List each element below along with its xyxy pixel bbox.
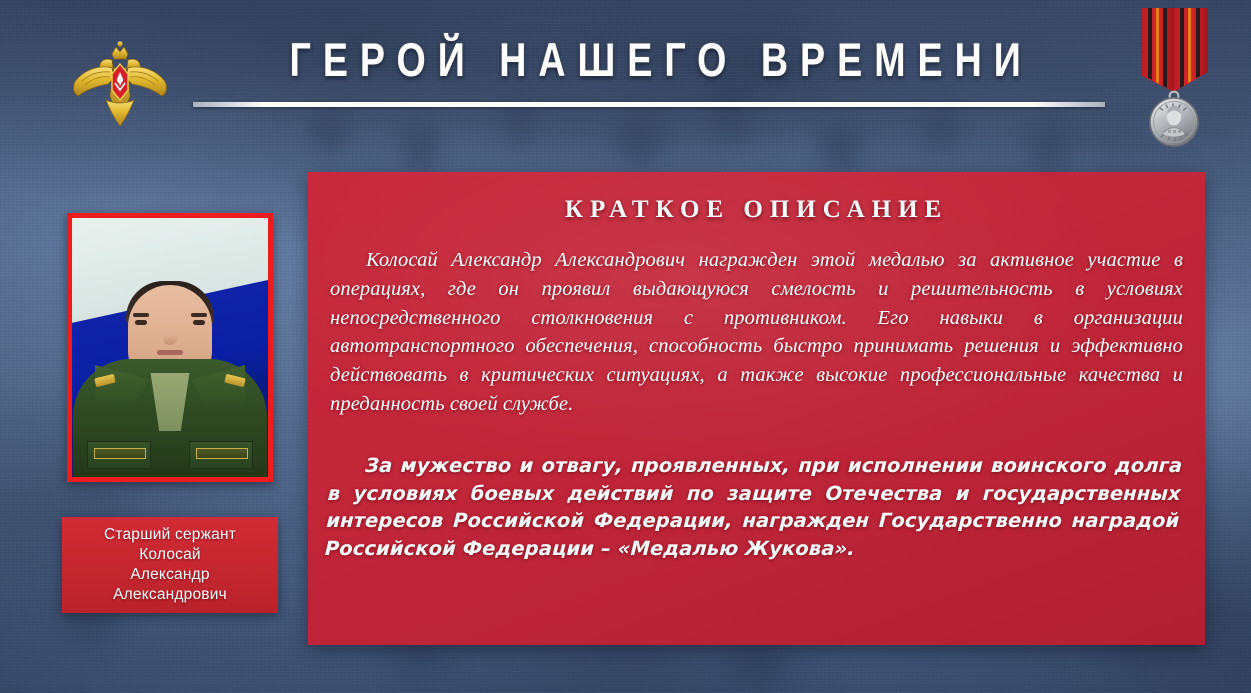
description-panel-title: КРАТКОЕ ОПИСАНИЕ [308,196,1205,224]
uniform-collar-right [191,365,245,417]
russian-mod-eagle-emblem-icon [68,38,172,134]
slide-root: ГЕРОЙ НАШЕГО ВРЕМЕНИ [0,0,1251,693]
uniform-torso [73,359,267,477]
title-underline [193,102,1105,107]
nameplate-firstname: Александр [130,565,209,585]
page-title: ГЕРОЙ НАШЕГО ВРЕМЕНИ [290,36,1006,83]
description-panel: КРАТКОЕ ОПИСАНИЕ Колосай Александр Алекс… [308,172,1205,645]
description-panel-body: Колосай Александр Александрович награжде… [330,246,1183,562]
description-paragraph-2: За мужество и отвагу, проявленных, при и… [324,452,1183,562]
uniform-pocket-left [87,441,151,469]
description-paragraph-1: Колосай Александр Александрович награжде… [330,246,1183,419]
uniform-collar-left [95,365,149,417]
portrait-brow-left [133,313,149,317]
undershirt [143,373,197,431]
soldier-portrait [67,213,273,482]
nameplate-rank: Старший сержант [104,525,236,545]
portrait-photo [72,218,268,477]
name-patch-right [196,448,248,459]
nameplate-surname: Колосай [139,545,201,565]
nameplate-patronymic: Александрович [113,585,227,605]
portrait-eye-left [135,320,147,325]
portrait-eye-right [193,320,205,325]
zhukov-medal-icon [1118,4,1230,154]
portrait-mouth [157,350,183,355]
uniform-pocket-right [189,441,253,469]
portrait-brow-right [191,313,207,317]
soldier-nameplate: Старший сержант Колосай Александр Алекса… [62,517,278,613]
name-patch-left [94,448,146,459]
